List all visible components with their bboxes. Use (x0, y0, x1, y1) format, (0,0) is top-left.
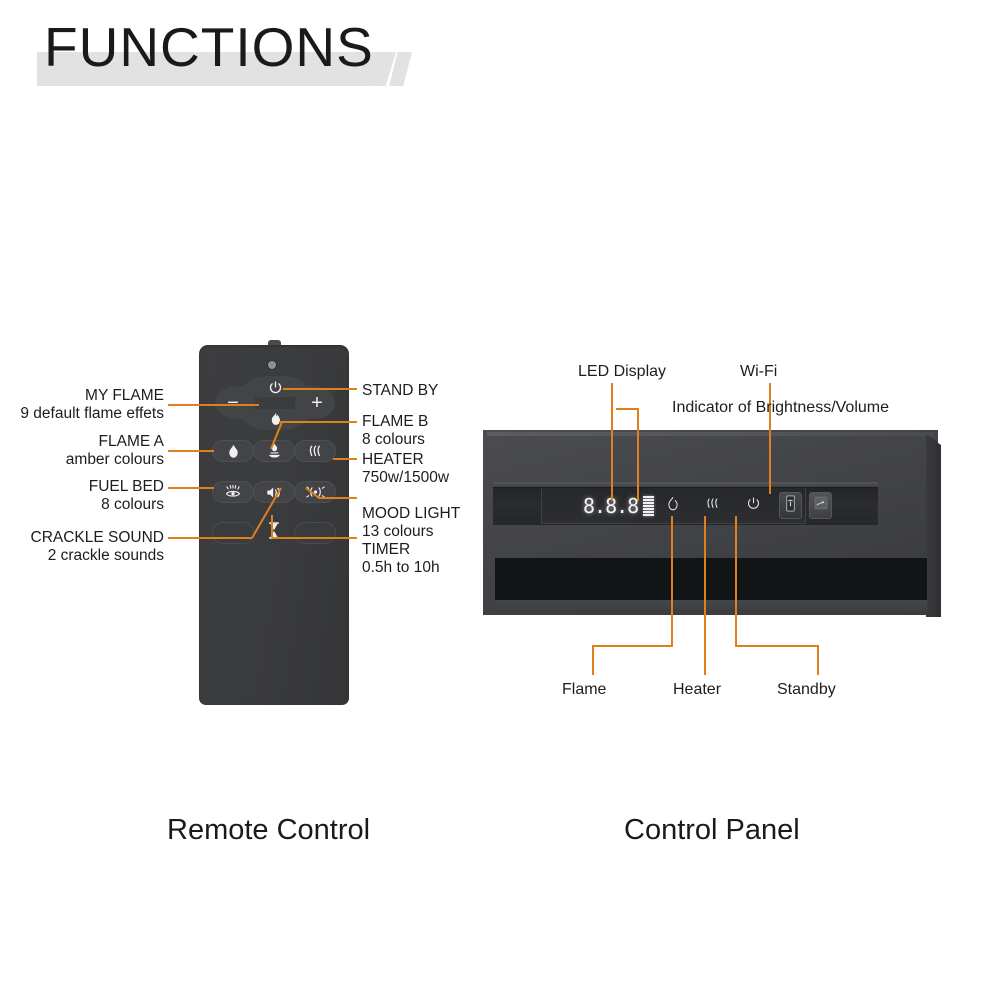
leader-my-flame (168, 404, 259, 406)
ir-led-indicator (268, 361, 276, 369)
leader-standby (283, 388, 357, 390)
flame-icon (667, 496, 679, 516)
page-title: FUNCTIONS (44, 20, 374, 75)
heater-touch-button[interactable] (703, 496, 723, 516)
label-fuel-bed-line2: 8 colours (0, 496, 164, 514)
label-crackle-line2: 2 crackle sounds (0, 547, 164, 565)
leader-led-display (611, 383, 613, 501)
label-heater-panel-text: Heater (673, 681, 721, 700)
leader-heater (333, 458, 357, 460)
receiver-button[interactable] (809, 492, 832, 519)
label-flame-b: FLAME B 8 colours (362, 413, 428, 450)
label-stand-by: STAND BY (362, 382, 438, 400)
label-indicator-brightness-volume: Indicator of Brightness/Volume (672, 399, 889, 418)
leader-flame-b-h (279, 421, 357, 423)
leader-flame-v-down (592, 645, 594, 675)
power-icon (746, 496, 761, 516)
leader-timer-v (271, 515, 273, 538)
leader-crackle-h (168, 537, 252, 539)
label-led-display-text: LED Display (578, 363, 666, 382)
leader-standby-v-down (817, 645, 819, 675)
remote-control-caption: Remote Control (167, 814, 370, 847)
leader-timer-h (272, 537, 357, 539)
label-wifi-text: Wi-Fi (740, 363, 777, 382)
label-timer-line2: 0.5h to 10h (362, 559, 440, 577)
fireplace-bottom-edge (495, 600, 927, 612)
leader-mood-diag (303, 486, 325, 502)
label-heater-line2: 750w/1500w (362, 469, 449, 487)
leader-flame-b-diag (266, 420, 288, 452)
leader-indicator-v (637, 408, 639, 501)
label-timer-line1: TIMER (362, 541, 440, 559)
minus-label: − (227, 393, 239, 413)
leader-standby-v-up (735, 516, 737, 646)
label-my-flame: MY FLAME 9 default flame effets (0, 387, 164, 424)
label-my-flame-line2: 9 default flame effets (0, 405, 164, 423)
heat-waves-icon (307, 444, 324, 458)
leader-crackle-diag (245, 485, 285, 541)
flame-drop-icon (227, 444, 240, 459)
wifi-module-icon (785, 495, 796, 517)
label-mood-light: MOOD LIGHT 13 colours (362, 505, 460, 542)
fireplace-glass-band (495, 558, 927, 600)
label-heater-panel: Heater (673, 681, 721, 700)
label-crackle-sound: CRACKLE SOUND 2 crackle sounds (0, 529, 164, 566)
flame-touch-button[interactable] (663, 496, 683, 516)
label-stand-by-line1: STAND BY (362, 382, 438, 400)
fireplace-top-highlight (487, 432, 934, 436)
leader-flame-a (168, 450, 214, 452)
blank-button-right[interactable] (294, 522, 336, 544)
functions-page: FUNCTIONS − + (0, 0, 1001, 1001)
label-wifi: Wi-Fi (740, 363, 777, 382)
led-display: 8.8.8 (583, 494, 654, 518)
label-flame-a-line2: amber colours (0, 451, 164, 469)
label-flame-b-line1: FLAME B (362, 413, 428, 431)
label-timer: TIMER 0.5h to 10h (362, 541, 440, 578)
label-flame: Flame (562, 681, 606, 700)
label-fuel-bed: FUEL BED 8 colours (0, 478, 164, 515)
heater-button[interactable] (294, 440, 336, 462)
label-standby-panel: Standby (777, 681, 836, 700)
label-led-display: LED Display (578, 363, 666, 382)
label-mood-light-line2: 13 colours (362, 523, 460, 541)
label-heater: HEATER 750w/1500w (362, 451, 449, 488)
label-fuel-bed-line1: FUEL BED (0, 478, 164, 496)
label-standby-panel-text: Standby (777, 681, 836, 700)
label-my-flame-line1: MY FLAME (0, 387, 164, 405)
minus-icon: − (223, 393, 243, 413)
standby-touch-button[interactable] (743, 496, 763, 516)
leader-indicator-h (616, 408, 638, 410)
label-flame-b-line2: 8 colours (362, 431, 428, 449)
leader-fuel-bed (168, 487, 214, 489)
control-panel-device: 8.8.8 (483, 430, 951, 622)
leader-heater-v (704, 516, 706, 675)
label-heater-line1: HEATER (362, 451, 449, 469)
leader-flame-h (592, 645, 673, 647)
receiver-icon (814, 496, 828, 515)
label-crackle-line1: CRACKLE SOUND (0, 529, 164, 547)
brightness-volume-indicator (643, 496, 654, 516)
control-panel-caption: Control Panel (624, 814, 800, 847)
label-mood-light-line1: MOOD LIGHT (362, 505, 460, 523)
page-header: FUNCTIONS (0, 28, 1001, 90)
plus-label: + (311, 393, 323, 413)
label-flame-a-line1: FLAME A (0, 433, 164, 451)
heat-waves-icon (705, 497, 721, 515)
leader-standby-h (735, 645, 819, 647)
power-icon (265, 377, 285, 397)
fireplace-side-bevel (926, 434, 941, 617)
wifi-button[interactable] (779, 492, 802, 519)
leader-flame-v-up (671, 516, 673, 646)
fuel-bed-icon (225, 485, 241, 500)
label-flame-a: FLAME A amber colours (0, 433, 164, 470)
plus-icon: + (307, 393, 327, 413)
label-indicator-text: Indicator of Brightness/Volume (672, 399, 889, 418)
flame-a-button[interactable] (212, 440, 254, 462)
label-flame-text: Flame (562, 681, 606, 700)
